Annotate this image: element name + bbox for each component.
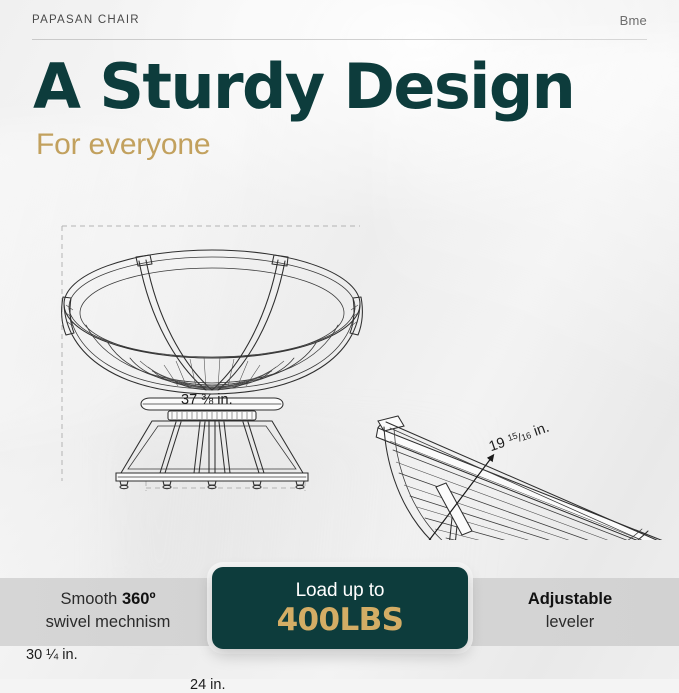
header-divider (32, 39, 647, 40)
feature-swivel-mechanism: Smooth 360º swivel mechnism (8, 588, 208, 634)
header: PAPASAN CHAIR Bme (32, 10, 647, 44)
dimension-label-height: 30 ¼ in. (26, 647, 78, 663)
infographic-root: PAPASAN CHAIR Bme A Sturdy Design For ev… (0, 0, 679, 679)
brand-logo-text: Bme (620, 13, 647, 28)
dimension-diagram: .ln{fill:none;stroke:#2e2e2e;stroke-widt… (0, 185, 679, 540)
dimension-label-width: 37 ⅜ in. (181, 392, 233, 408)
seat-dim-denominator: 16 (520, 430, 533, 443)
feature-swivel-value: 360º (122, 590, 156, 608)
page-title: A Sturdy Design (33, 56, 574, 118)
feature-adjustable-leveler: Adjustable leveler (470, 588, 670, 634)
seat-dim-numerator: 15 (506, 430, 519, 443)
feature-leveler-strong: Adjustable (528, 590, 612, 608)
load-capacity-label: Load up to (296, 580, 385, 602)
feature-leveler-tail: leveler (546, 613, 595, 631)
chair-front-view (62, 250, 363, 489)
dimension-label-depth: 24 in. (190, 677, 225, 693)
load-capacity-value: 400LBS (277, 603, 404, 637)
page-subtitle: For everyone (36, 128, 210, 162)
load-capacity-badge: Load up to 400LBS (212, 567, 468, 649)
feature-swivel-tail: swivel mechnism (46, 613, 171, 631)
chair-line-drawings: .ln{fill:none;stroke:#2e2e2e;stroke-widt… (0, 185, 679, 540)
feature-swivel-lead: Smooth (60, 590, 121, 608)
product-category-label: PAPASAN CHAIR (32, 14, 140, 26)
